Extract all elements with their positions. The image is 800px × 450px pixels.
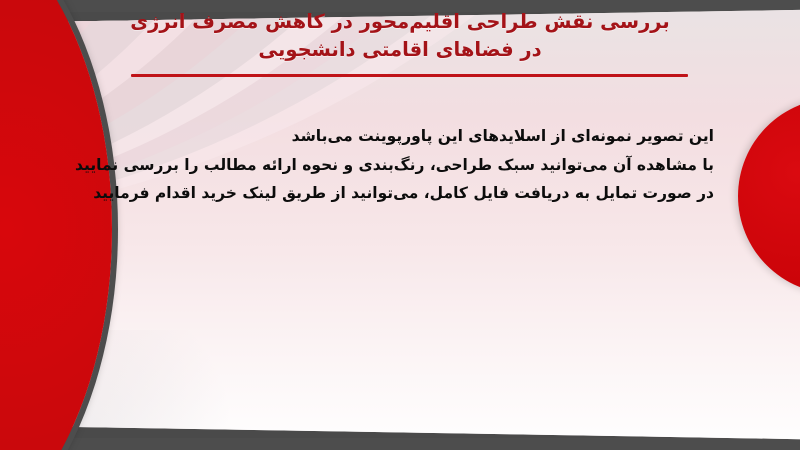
title-line-2: در فضاهای اقامتی دانشجویی [0,36,800,64]
title-line-1: بررسی نقش طراحی اقلیم‌محور در کاهش مصرف … [0,8,800,36]
slide-body-text: این تصویر نمونه‌ای از اسلایدهای این پاور… [150,122,714,208]
body-line-2: با مشاهده آن می‌توانید سبک طراحی، رنگ‌بن… [150,151,714,180]
presentation-slide: بررسی نقش طراحی اقلیم‌محور در کاهش مصرف … [0,0,800,450]
body-line-1: این تصویر نمونه‌ای از اسلایدهای این پاور… [150,122,714,151]
body-line-3: در صورت تمایل به دریافت فایل کامل، می‌تو… [150,179,714,208]
slide-title: بررسی نقش طراحی اقلیم‌محور در کاهش مصرف … [0,8,800,64]
slide-content: بررسی نقش طراحی اقلیم‌محور در کاهش مصرف … [0,0,800,450]
title-underline-rule [131,74,688,77]
